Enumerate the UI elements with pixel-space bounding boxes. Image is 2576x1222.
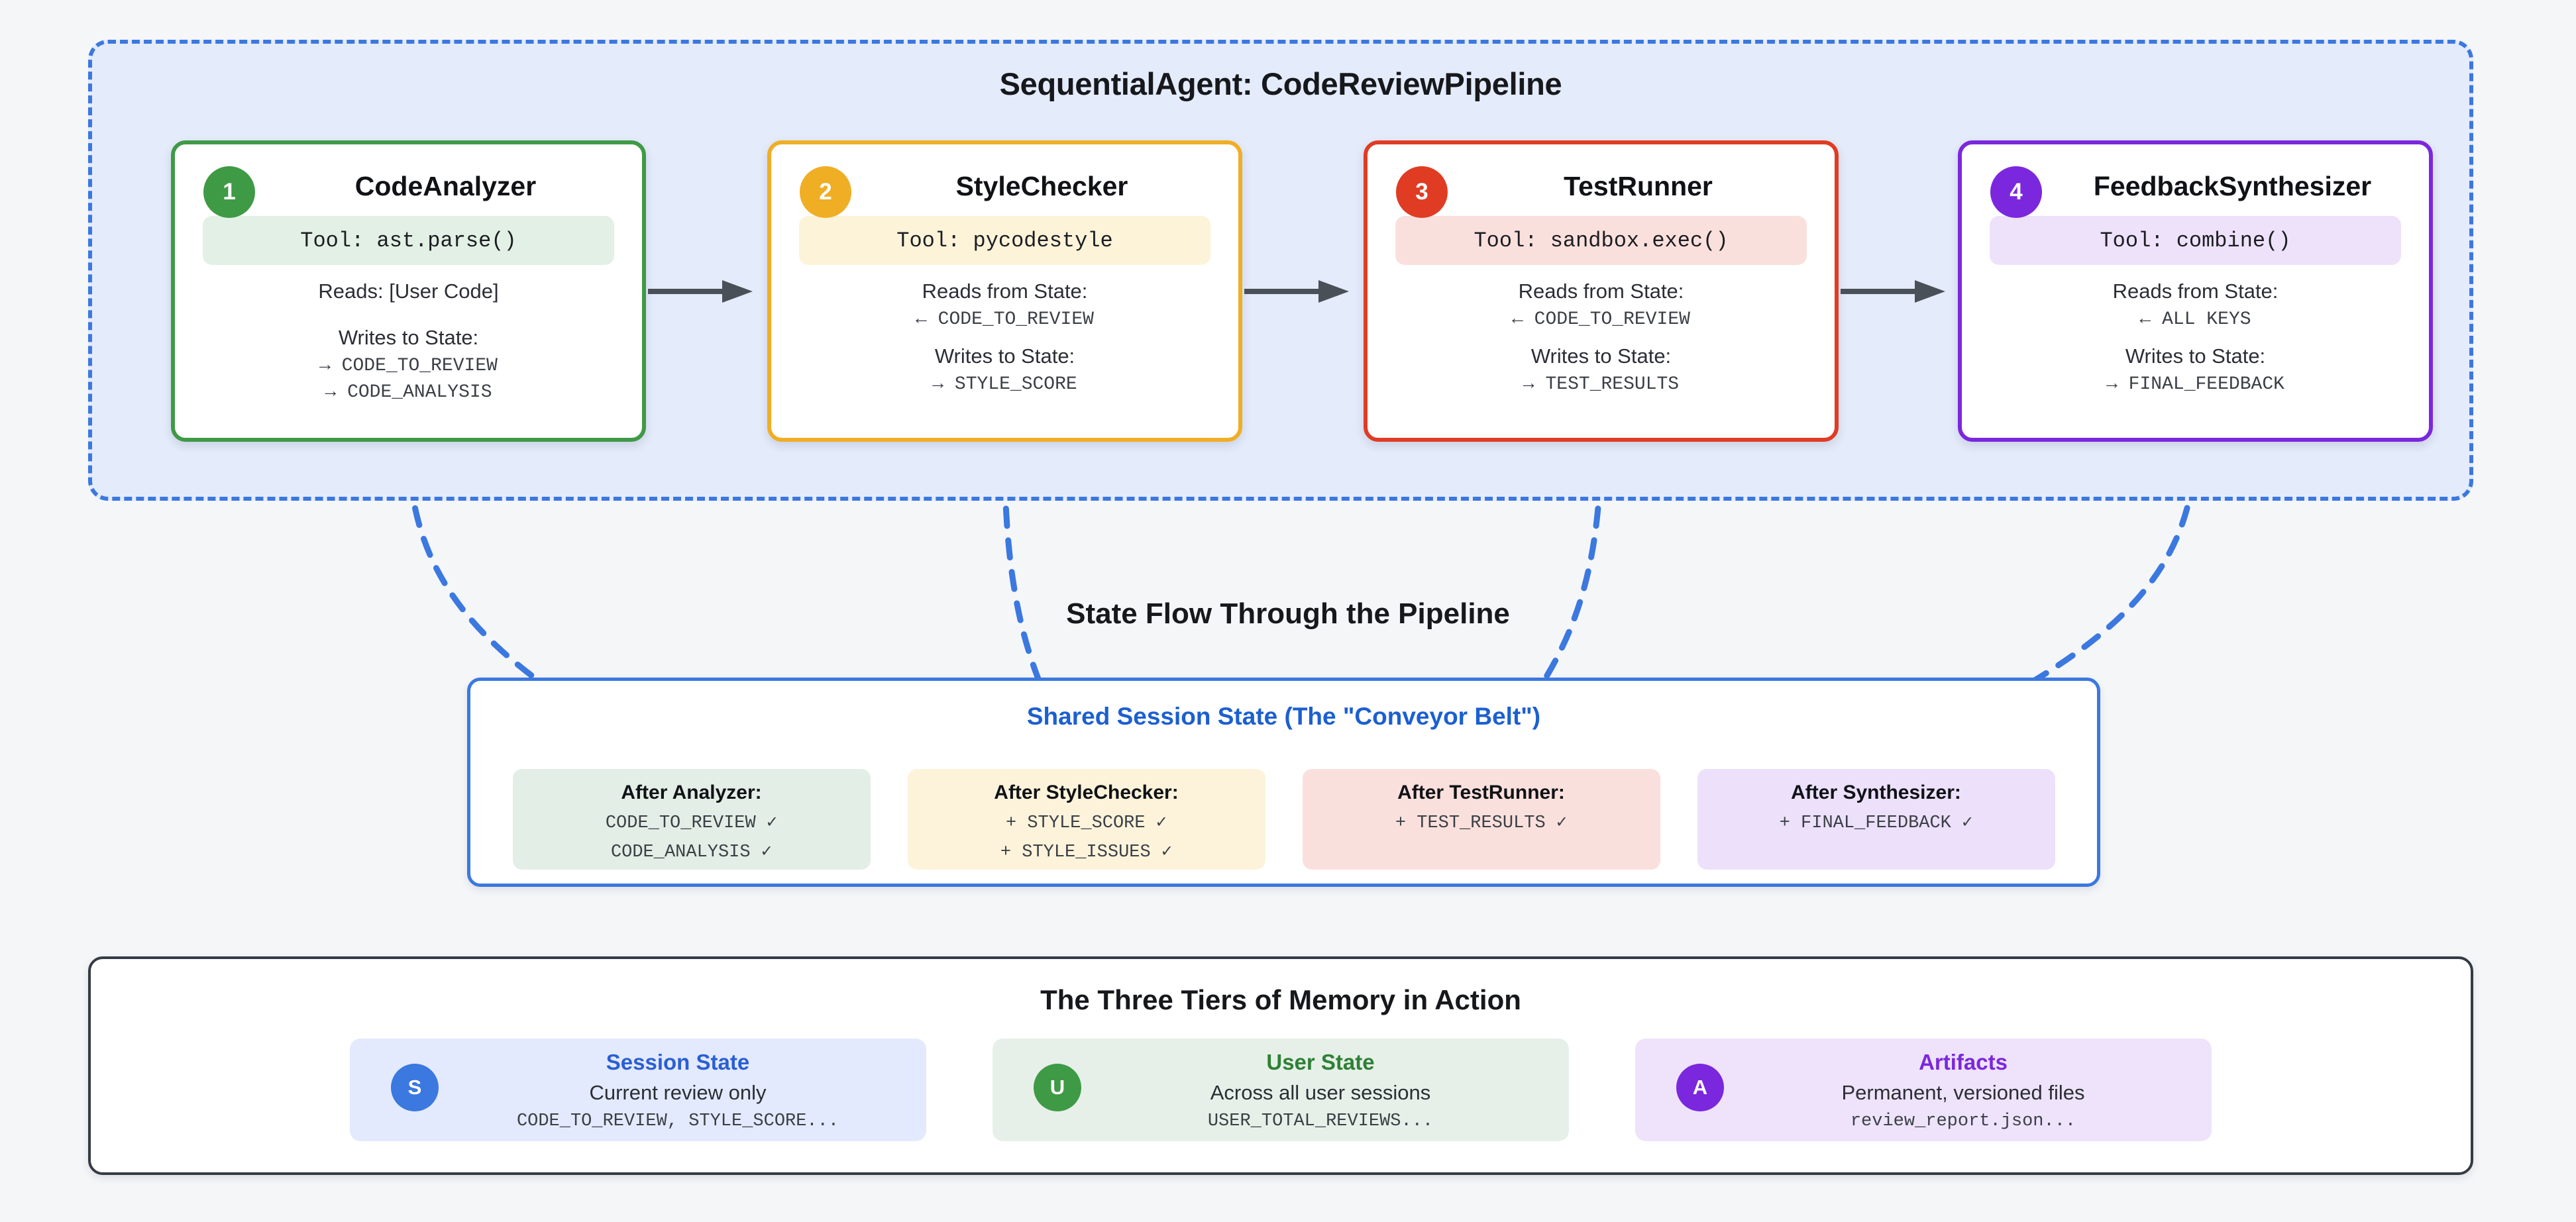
- reads-label: Reads: [User Code]: [175, 280, 642, 303]
- session-state-badge-icon: S: [391, 1064, 439, 1111]
- read-key: ← CODE_TO_REVIEW: [1368, 309, 1835, 330]
- card-header: 2 StyleChecker: [771, 144, 1238, 216]
- shared-session-state-panel: Shared Session State (The "Conveyor Belt…: [467, 678, 2100, 887]
- memory-tier-user-state[interactable]: U User State Across all user sessions US…: [993, 1039, 1569, 1141]
- pipeline-title: SequentialAgent: CodeReviewPipeline: [92, 66, 2469, 102]
- state-key: CODE_TO_REVIEW ✓: [513, 811, 871, 833]
- spacer: [175, 303, 642, 311]
- tier-keys: USER_TOTAL_REVIEWS...: [1072, 1111, 1569, 1131]
- tier-keys: review_report.json...: [1715, 1111, 2212, 1131]
- state-key: + FINAL_FEEDBACK ✓: [1697, 811, 2055, 833]
- state-stage-after-analyzer[interactable]: After Analyzer: CODE_TO_REVIEW ✓ CODE_AN…: [513, 769, 871, 870]
- memory-tier-row: S Session State Current review only CODE…: [91, 1039, 2471, 1141]
- writes-label: Writes to State:: [771, 344, 1238, 368]
- write-key: → CODE_TO_REVIEW: [175, 356, 642, 376]
- tier-body: User State Across all user sessions USER…: [1072, 1050, 1569, 1131]
- tool-chip: Tool: combine(): [1990, 216, 2401, 265]
- card-header: 4 FeedbackSynthesizer: [1962, 144, 2429, 216]
- agent-card-codeanalyzer[interactable]: 1 CodeAnalyzer Tool: ast.parse() Reads: …: [171, 140, 646, 442]
- flow-arrow-icon: [1841, 278, 1947, 305]
- writes-label: Writes to State:: [1962, 344, 2429, 368]
- memory-tier-session-state[interactable]: S Session State Current review only CODE…: [350, 1039, 926, 1141]
- read-key: ← CODE_TO_REVIEW: [771, 309, 1238, 330]
- agent-card-stylechecker[interactable]: 2 StyleChecker Tool: pycodestyle Reads f…: [767, 140, 1242, 442]
- writes-label: Writes to State:: [175, 326, 642, 350]
- state-stage-title: After Analyzer:: [513, 782, 871, 804]
- tier-description: Across all user sessions: [1072, 1081, 1569, 1105]
- reads-label: Reads from State:: [1962, 280, 2429, 303]
- write-key: → STYLE_SCORE: [771, 374, 1238, 395]
- state-stage-after-testrunner[interactable]: After TestRunner: + TEST_RESULTS ✓: [1303, 769, 1660, 870]
- state-key: + STYLE_ISSUES ✓: [908, 840, 1265, 862]
- memory-tiers-panel: The Three Tiers of Memory in Action S Se…: [88, 956, 2473, 1175]
- step-number-badge: 2: [800, 166, 851, 218]
- tier-description: Current review only: [429, 1081, 926, 1105]
- tier-description: Permanent, versioned files: [1715, 1081, 2212, 1105]
- agent-name: StyleChecker: [864, 171, 1220, 202]
- tier-keys: CODE_TO_REVIEW, STYLE_SCORE...: [429, 1111, 926, 1131]
- state-key: + TEST_RESULTS ✓: [1303, 811, 1660, 833]
- state-stage-title: After StyleChecker:: [908, 782, 1265, 804]
- card-header: 3 TestRunner: [1368, 144, 1835, 216]
- memory-tier-artifacts[interactable]: A Artifacts Permanent, versioned files r…: [1635, 1039, 2212, 1141]
- tier-name: Artifacts: [1715, 1050, 2212, 1075]
- diagram-canvas: SequentialAgent: CodeReviewPipeline 1 Co…: [0, 0, 2576, 1222]
- state-key: CODE_ANALYSIS ✓: [513, 840, 871, 862]
- flow-arrow-icon: [1244, 278, 1350, 305]
- write-key: → FINAL_FEEDBACK: [1962, 374, 2429, 395]
- state-stage-title: After Synthesizer:: [1697, 782, 2055, 804]
- card-header: 1 CodeAnalyzer: [175, 144, 642, 216]
- state-stage-title: After TestRunner:: [1303, 782, 1660, 804]
- agent-name: FeedbackSynthesizer: [2055, 171, 2410, 202]
- agent-card-feedbacksynthesizer[interactable]: 4 FeedbackSynthesizer Tool: combine() Re…: [1958, 140, 2433, 442]
- conveyor-belt-title: Shared Session State (The "Conveyor Belt…: [470, 703, 2097, 731]
- reads-label: Reads from State:: [771, 280, 1238, 303]
- reads-label: Reads from State:: [1368, 280, 1835, 303]
- step-number-badge: 3: [1396, 166, 1448, 218]
- step-number-badge: 4: [1990, 166, 2042, 218]
- tool-chip: Tool: ast.parse(): [203, 216, 614, 265]
- tool-chip: Tool: sandbox.exec(): [1395, 216, 1807, 265]
- state-stage-after-synthesizer[interactable]: After Synthesizer: + FINAL_FEEDBACK ✓: [1697, 769, 2055, 870]
- tier-name: Session State: [429, 1050, 926, 1075]
- step-number-badge: 1: [203, 166, 255, 218]
- user-state-badge-icon: U: [1034, 1064, 1081, 1111]
- writes-label: Writes to State:: [1368, 344, 1835, 368]
- tier-name: User State: [1072, 1050, 1569, 1075]
- state-stage-row: After Analyzer: CODE_TO_REVIEW ✓ CODE_AN…: [470, 769, 2097, 870]
- artifacts-badge-icon: A: [1676, 1064, 1724, 1111]
- tool-chip: Tool: pycodestyle: [799, 216, 1210, 265]
- write-key: → TEST_RESULTS: [1368, 374, 1835, 395]
- tier-body: Session State Current review only CODE_T…: [429, 1050, 926, 1131]
- agent-name: CodeAnalyzer: [268, 171, 623, 202]
- tier-body: Artifacts Permanent, versioned files rev…: [1715, 1050, 2212, 1131]
- state-flow-section-title: State Flow Through the Pipeline: [0, 597, 2576, 631]
- read-key: ← ALL KEYS: [1962, 309, 2429, 330]
- state-key: + STYLE_SCORE ✓: [908, 811, 1265, 833]
- memory-panel-title: The Three Tiers of Memory in Action: [91, 984, 2471, 1016]
- flow-arrow-icon: [648, 278, 754, 305]
- state-stage-after-stylechecker[interactable]: After StyleChecker: + STYLE_SCORE ✓ + ST…: [908, 769, 1265, 870]
- agent-card-testrunner[interactable]: 3 TestRunner Tool: sandbox.exec() Reads …: [1364, 140, 1839, 442]
- agent-name: TestRunner: [1460, 171, 1816, 202]
- write-key: → CODE_ANALYSIS: [175, 382, 642, 403]
